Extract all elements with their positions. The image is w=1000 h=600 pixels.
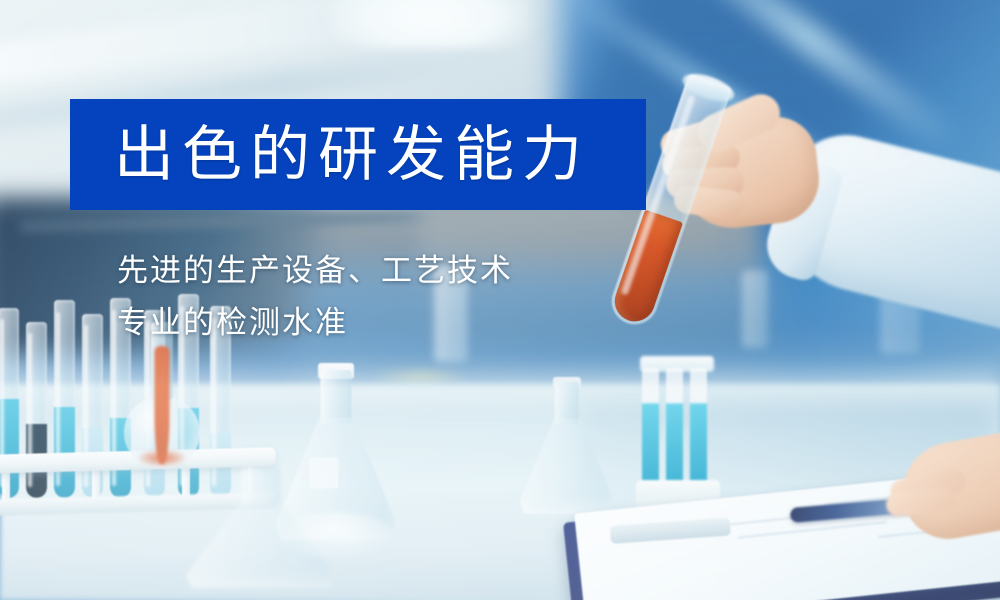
hand-resting-on-desk bbox=[884, 420, 1000, 550]
round-bottom-flask bbox=[124, 396, 200, 468]
subtitle-block: 先进的生产设备、工艺技术 专业的检测水准 bbox=[117, 245, 637, 349]
page-title: 出色的研发能力 bbox=[70, 125, 590, 185]
ceiling-lamp-left-icon bbox=[330, 0, 530, 48]
petri-dish bbox=[276, 512, 394, 558]
cyan-tube-holder bbox=[636, 358, 720, 508]
gloved-hand-holding-test-tube bbox=[648, 58, 1000, 328]
cyan-tube-3 bbox=[690, 368, 707, 490]
flask-neck bbox=[242, 468, 281, 506]
orange-liquid-stream bbox=[155, 346, 170, 464]
flask-neck bbox=[320, 370, 351, 424]
cyan-tube-1 bbox=[642, 368, 659, 490]
subtitle-line-1: 先进的生产设备、工艺技术 bbox=[117, 245, 637, 297]
headline-banner: 出色的研发能力 bbox=[70, 99, 646, 210]
subtitle-line-2: 专业的检测水准 bbox=[117, 297, 637, 349]
flask-body bbox=[520, 419, 614, 514]
orange-liquid-pool bbox=[139, 450, 185, 466]
flask-neck bbox=[555, 382, 579, 424]
cyan-tube-2 bbox=[666, 368, 683, 490]
lab-hero-banner: 出色的研发能力 先进的生产设备、工艺技术 专业的检测水准 bbox=[0, 0, 1000, 600]
erlenmeyer-flask-mid bbox=[520, 382, 614, 514]
